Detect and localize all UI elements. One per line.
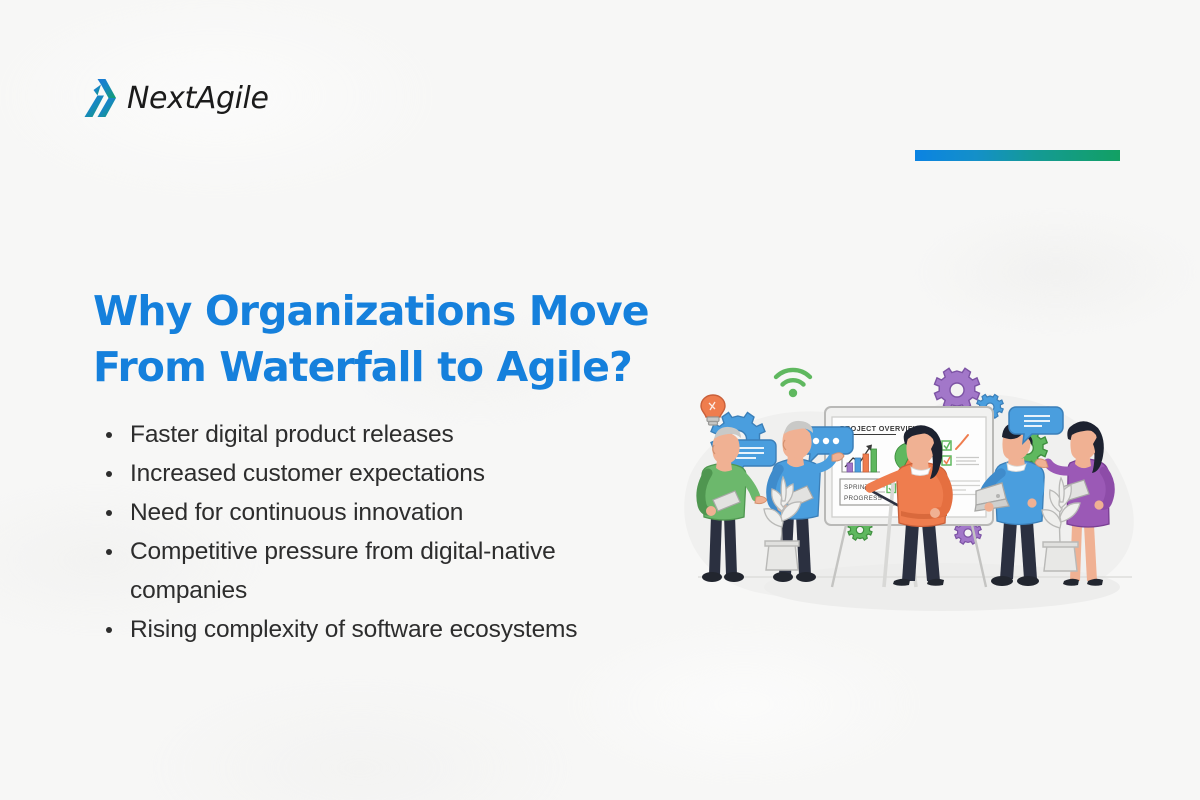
- list-item: Faster digital product releases: [100, 415, 675, 454]
- illustration-svg: PROJECT OVERVIEW: [680, 355, 1150, 655]
- brand-wordmark: NextAgile: [127, 81, 269, 116]
- list-item: Need for continuous innovation: [100, 493, 675, 532]
- page-title-line-2: From Waterfall to Agile?: [93, 339, 713, 395]
- reasons-bullet-list: Faster digital product releases Increase…: [100, 415, 675, 649]
- page-title: Why Organizations Move From Waterfall to…: [93, 283, 713, 395]
- wifi-signal-icon: [776, 370, 810, 397]
- brand-logo[interactable]: NextAgile: [80, 78, 269, 118]
- agile-team-presentation-illustration: PROJECT OVERVIEW: [680, 355, 1150, 655]
- nextagile-a-mark-icon: [80, 78, 118, 118]
- page-title-line-1: Why Organizations Move: [93, 283, 713, 339]
- lightbulb-icon: [701, 395, 725, 425]
- list-item: Competitive pressure from digital-native…: [100, 532, 675, 610]
- sprint-label-line-2: PROGRESS: [844, 495, 882, 502]
- list-item: Increased customer expectations: [100, 454, 675, 493]
- list-item: Rising complexity of software ecosystems: [100, 610, 675, 649]
- gradient-accent-bar: [915, 150, 1120, 161]
